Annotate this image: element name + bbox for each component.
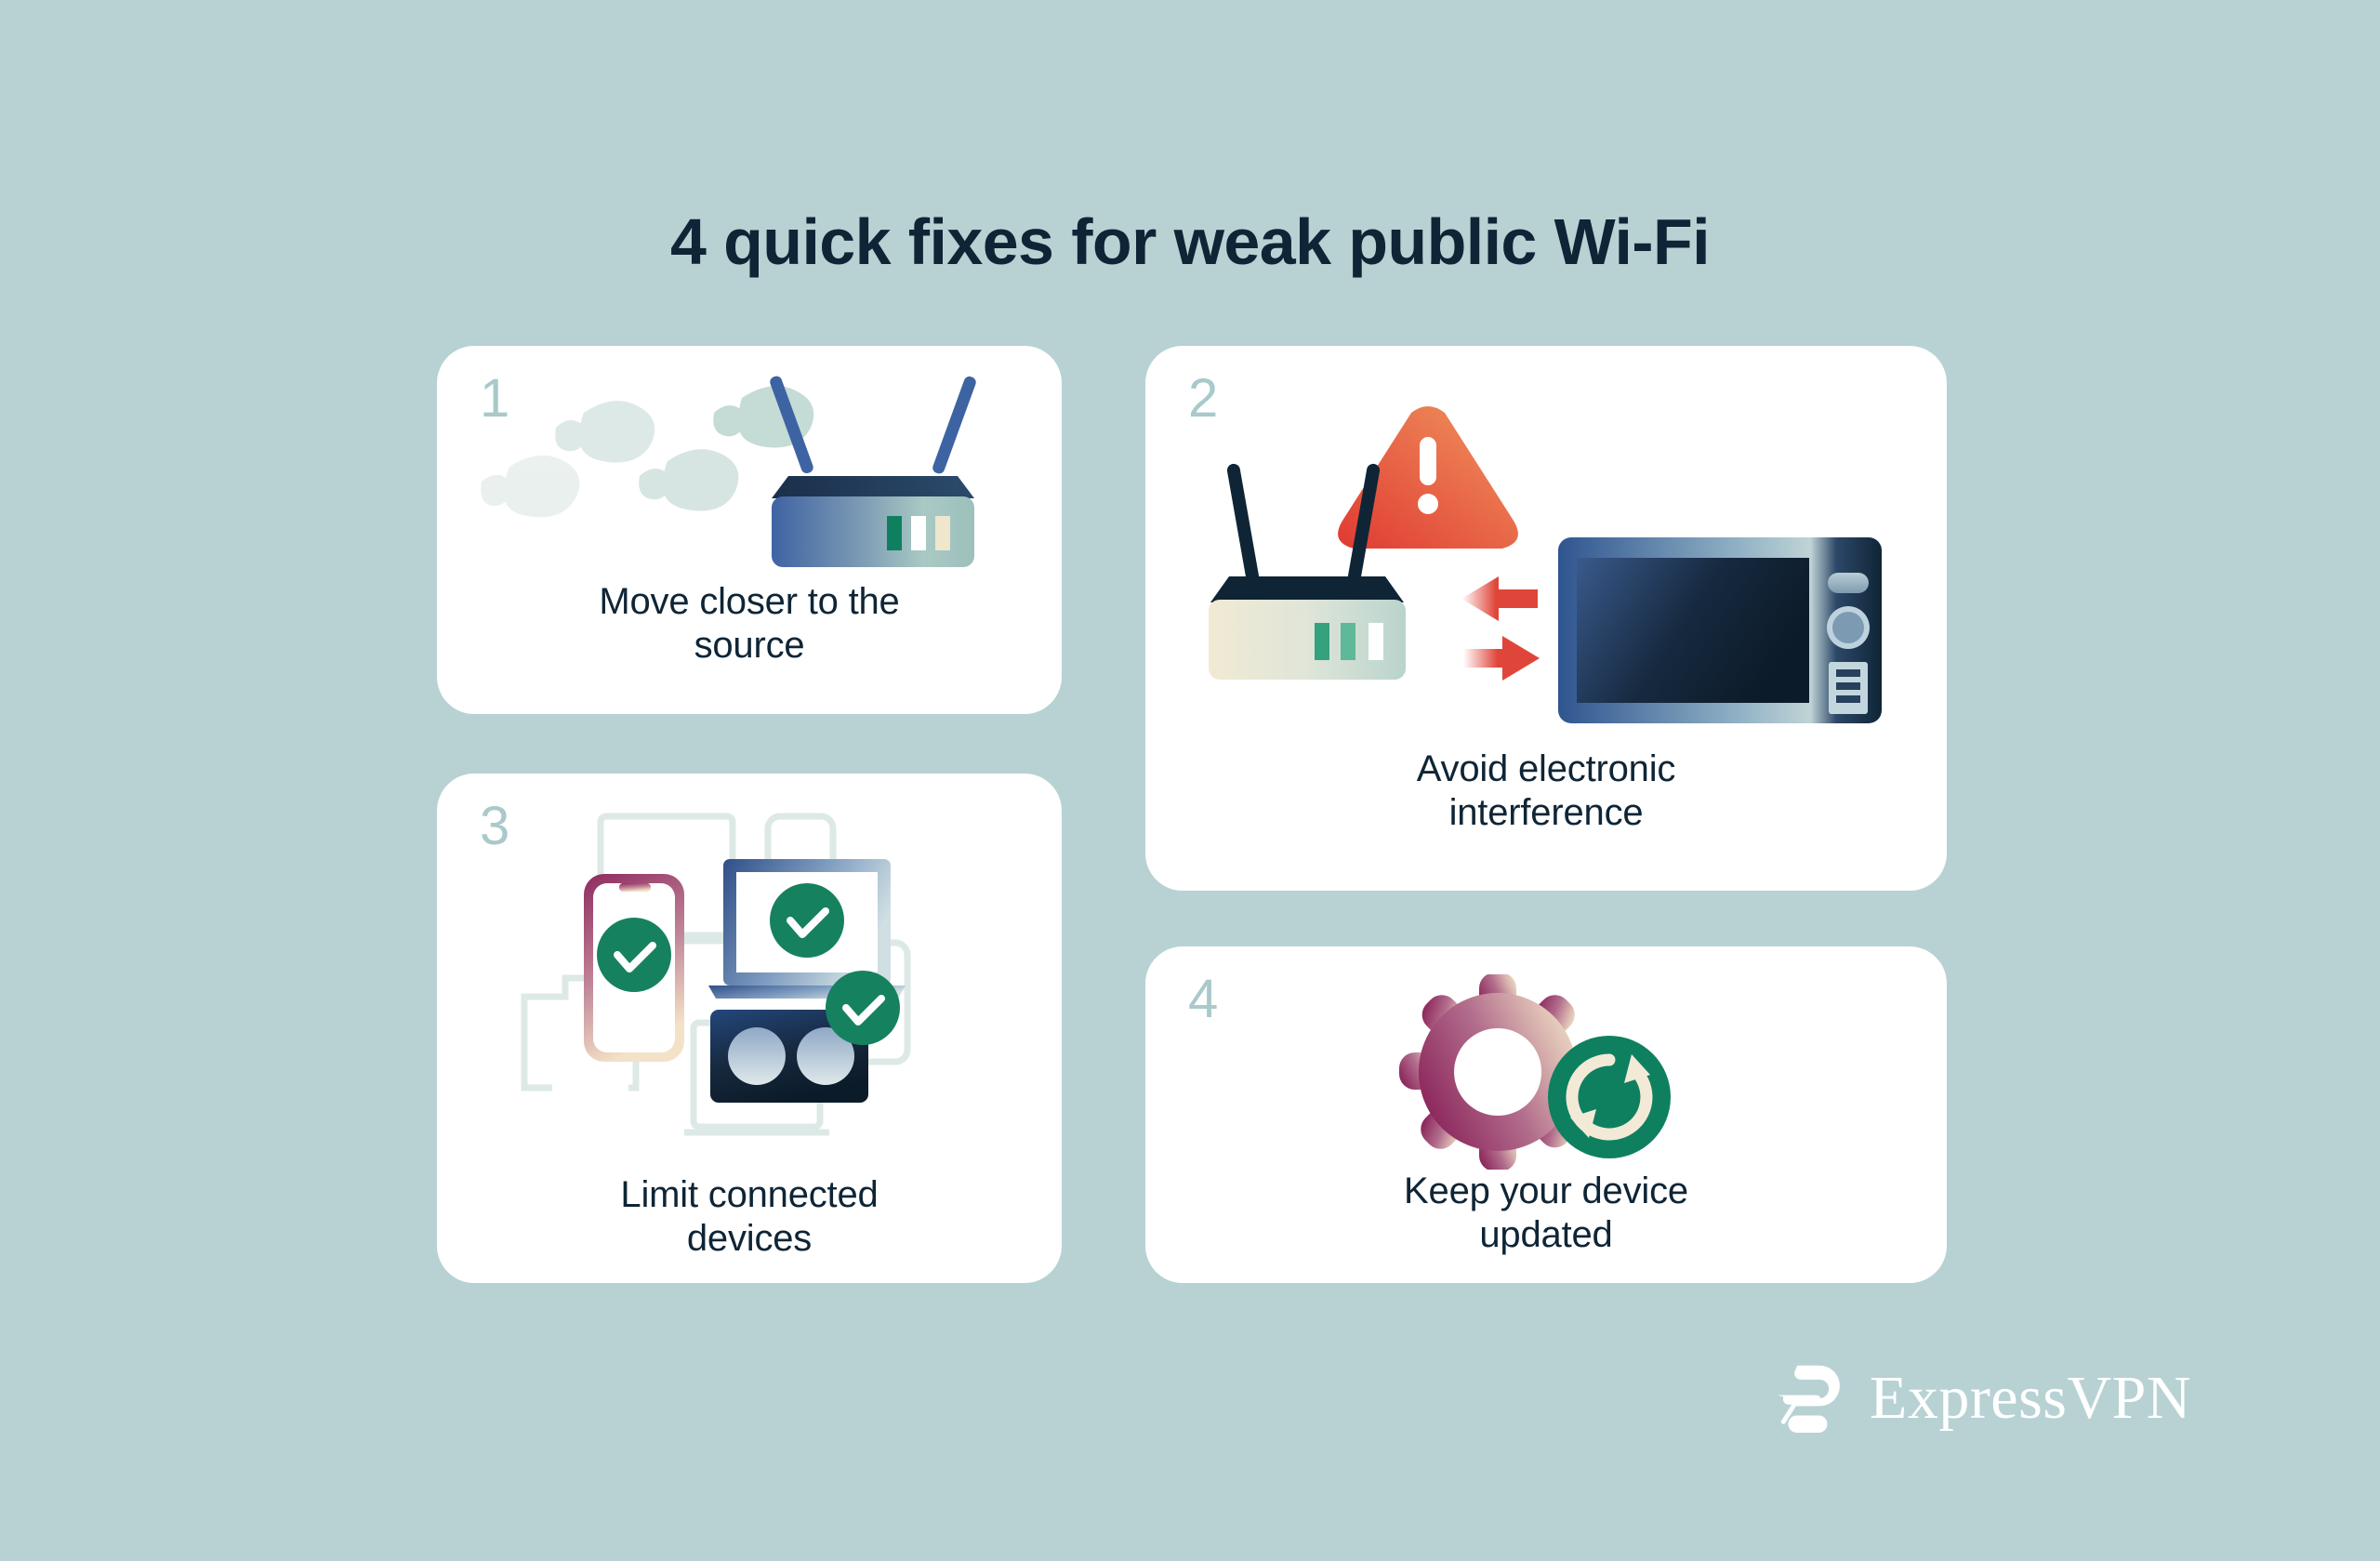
footprint-trail-icon (481, 386, 813, 517)
router-led-green (887, 516, 902, 550)
card-number: 3 (480, 800, 509, 853)
router-led-green-2 (1341, 623, 1355, 660)
microwave-icon (1558, 537, 1882, 723)
refresh-icon (1548, 1036, 1671, 1158)
card-label: Move closer to the source (437, 580, 1062, 668)
brand-logo: ExpressVPN (1771, 1359, 2191, 1437)
interference-arrows-icon (1461, 576, 1540, 681)
page-title: 4 quick fixes for weak public Wi-Fi (0, 206, 2380, 278)
check-badge-phone (597, 918, 671, 992)
card-number: 4 (1188, 972, 1218, 1026)
router-led-white (911, 516, 926, 550)
card-label: Limit connected devices (437, 1173, 1062, 1261)
expressvpn-logo-icon (1771, 1359, 1849, 1437)
check-badge-speaker (826, 971, 900, 1045)
infographic-canvas: 4 quick fixes for weak public Wi-Fi 1 (0, 0, 2380, 1561)
tip-card-4: 4 (1145, 946, 1947, 1283)
router-led-cream (935, 516, 950, 550)
microwave-handle (1828, 573, 1869, 593)
tip-card-3: 3 (437, 774, 1062, 1283)
tip-card-2: 2 (1145, 346, 1947, 891)
router-led-white (1368, 623, 1383, 660)
tip-card-1: 1 (437, 346, 1062, 714)
footprints-to-router-illustration (465, 372, 1041, 572)
router-microwave-interference-illustration (1203, 400, 1891, 725)
check-badge-laptop (770, 883, 844, 958)
card-label: Avoid electronic interference (1145, 747, 1947, 835)
gear-refresh-illustration (1382, 974, 1717, 1170)
router-led-green-1 (1315, 623, 1329, 660)
card-label: Keep your device updated (1145, 1170, 1947, 1257)
brand-name: ExpressVPN (1870, 1368, 2191, 1429)
connected-devices-checkmarks-illustration (511, 811, 995, 1169)
